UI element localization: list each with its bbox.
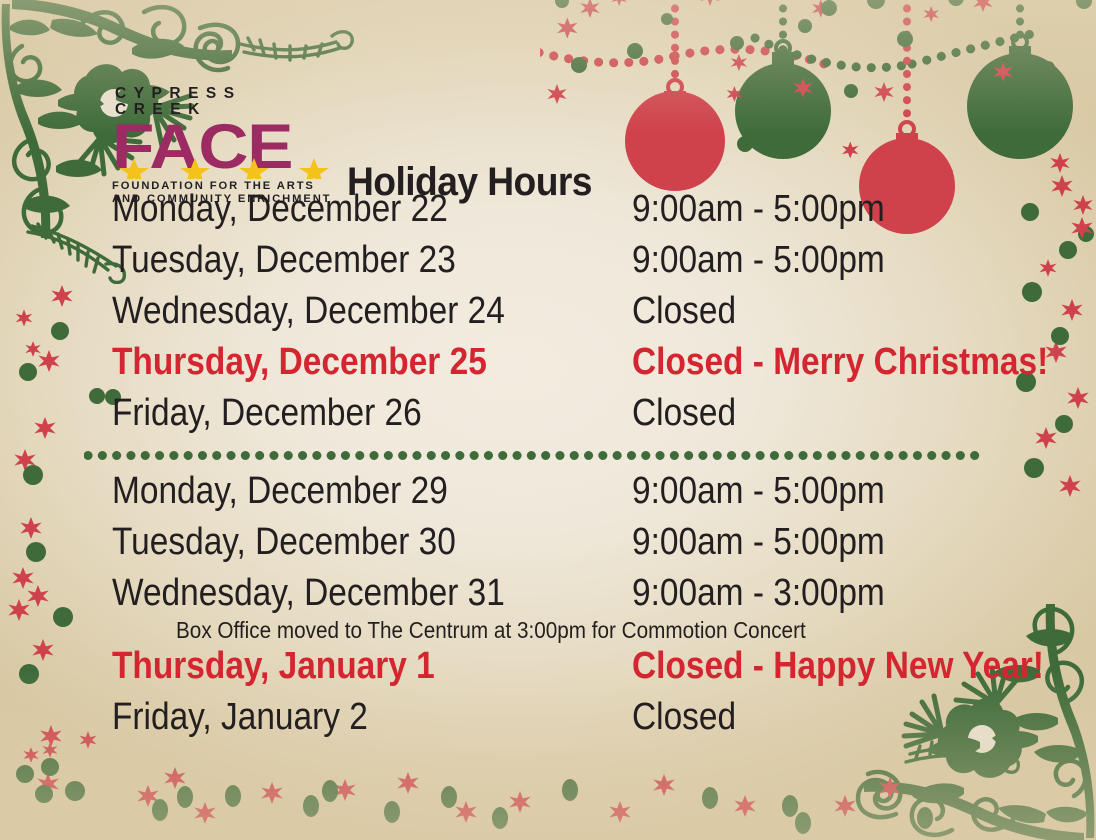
schedule-hours: Closed bbox=[632, 394, 966, 432]
schedule-row: Friday, January 2 Closed bbox=[112, 698, 1012, 749]
schedule-hours: Closed - Happy New Year! bbox=[632, 647, 1044, 685]
schedule-day: Wednesday, December 31 bbox=[112, 574, 570, 612]
schedule-row: Wednesday, December 24 Closed bbox=[112, 292, 1012, 343]
logo-tagline: FOUNDATION FOR THE ARTS AND COMMUNITY EN… bbox=[112, 180, 334, 205]
schedule-row: Monday, December 29 9:00am - 5:00pm bbox=[112, 472, 1012, 523]
schedule-hours: Closed - Merry Christmas! bbox=[632, 343, 1048, 381]
dotted-divider bbox=[84, 451, 992, 460]
schedule-day: Tuesday, December 30 bbox=[112, 523, 570, 561]
schedule-day: Thursday, December 25 bbox=[112, 343, 570, 381]
schedule-note: Box Office moved to The Centrum at 3:00p… bbox=[176, 619, 928, 642]
face-logo: CYPRESS CREEK FACE FOUNDATION FOR THE AR… bbox=[112, 86, 334, 205]
schedule-day: Monday, December 29 bbox=[112, 472, 570, 510]
schedule-section-two: Monday, December 29 9:00am - 5:00pm Tues… bbox=[112, 472, 1012, 749]
green-ornament-2 bbox=[967, 35, 1073, 159]
schedule-hours: Closed bbox=[632, 292, 966, 330]
holiday-hours-poster: CYPRESS CREEK FACE FOUNDATION FOR THE AR… bbox=[0, 0, 1096, 840]
header: CYPRESS CREEK FACE FOUNDATION FOR THE AR… bbox=[112, 86, 610, 205]
schedule-section-one: Monday, December 22 9:00am - 5:00pm Tues… bbox=[112, 190, 1012, 445]
logo-tagline-line-2: AND COMMUNITY ENRICHMENT bbox=[112, 193, 334, 206]
schedule-day: Thursday, January 1 bbox=[112, 647, 570, 685]
schedule-row: Tuesday, December 30 9:00am - 5:00pm bbox=[112, 523, 1012, 574]
schedule-row: Friday, December 26 Closed bbox=[112, 394, 1012, 445]
schedule-hours: Closed bbox=[632, 698, 966, 736]
schedule-hours: 9:00am - 5:00pm bbox=[632, 523, 966, 561]
schedule-day: Friday, December 26 bbox=[112, 394, 570, 432]
logo-gold-stars-icon bbox=[118, 157, 334, 179]
green-ornament-1 bbox=[735, 41, 831, 159]
pine-sprig-top-icon bbox=[236, 4, 356, 64]
red-ornament-1 bbox=[625, 80, 725, 191]
schedule-day: Tuesday, December 23 bbox=[112, 241, 570, 279]
schedule-hours: 9:00am - 5:00pm bbox=[632, 241, 966, 279]
schedule-row-holiday: Thursday, January 1 Closed - Happy New Y… bbox=[112, 647, 1012, 698]
schedule-hours: 9:00am - 5:00pm bbox=[632, 472, 966, 510]
schedule-day: Friday, January 2 bbox=[112, 698, 570, 736]
schedule-hours: 9:00am - 5:00pm bbox=[632, 190, 966, 228]
schedule-day: Wednesday, December 24 bbox=[112, 292, 570, 330]
schedule-row-holiday: Thursday, December 25 Closed - Merry Chr… bbox=[112, 343, 1012, 394]
schedule-row: Tuesday, December 23 9:00am - 5:00pm bbox=[112, 241, 1012, 292]
logo-acronym-block: FACE bbox=[112, 120, 334, 174]
schedule: Monday, December 22 9:00am - 5:00pm Tues… bbox=[112, 190, 1012, 749]
schedule-hours: 9:00am - 3:00pm bbox=[632, 574, 966, 612]
page-title: Holiday Hours bbox=[347, 162, 592, 205]
